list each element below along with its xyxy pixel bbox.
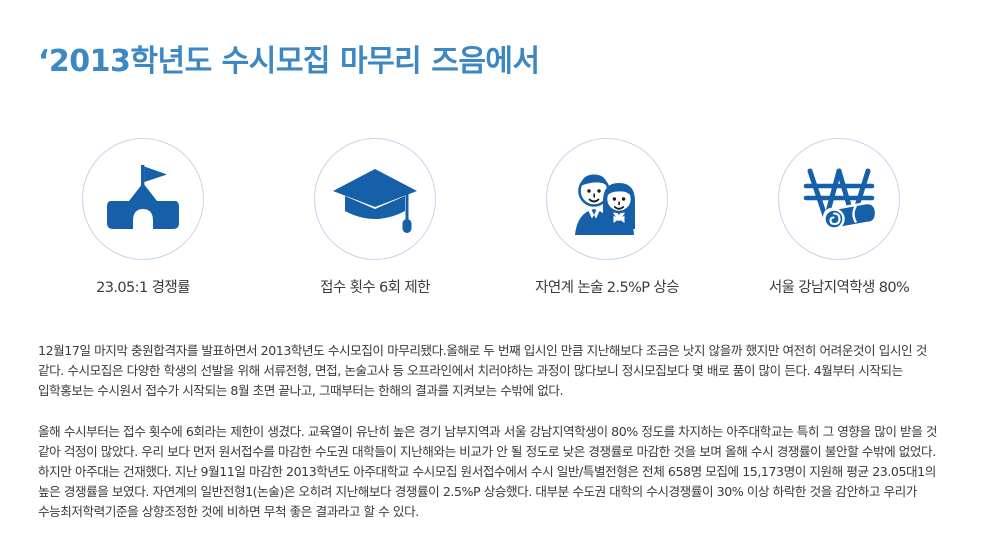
stat-card-gangnam-students: 서울 강남지역학생 80% [734,138,944,297]
stat-icon-row: 23.05:1 경쟁률 접수 횟수 [38,138,944,297]
stat-label: 자연계 논술 2.5%P 상승 [535,276,679,297]
stat-label: 접수 횟수 6회 제한 [320,276,430,297]
stat-label: 23.05:1 경쟁률 [96,276,190,297]
stat-icon-circle [778,138,900,260]
graduation-cap-icon [329,153,421,245]
article-paragraph: 12월17일 마지막 충원합격자를 발표하면서 2013학년도 수시모집이 마무… [38,341,948,402]
stat-icon-circle [314,138,436,260]
article-paragraph: 올해 수시부터는 접수 횟수에 6회라는 제한이 생겼다. 교육열이 유난히 높… [38,422,948,523]
page-title: ‘2013학년도 수시모집 마무리 즈음에서 [38,36,540,80]
stat-icon-circle [82,138,204,260]
school-building-flag-icon [97,153,189,245]
two-students-icon [561,153,653,245]
won-diploma-scroll-icon [793,153,885,245]
stat-card-essay-increase: 자연계 논술 2.5%P 상승 [502,138,712,297]
stat-card-competition-ratio: 23.05:1 경쟁률 [38,138,248,297]
stat-card-application-limit: 접수 횟수 6회 제한 [270,138,480,297]
stat-icon-circle [546,138,668,260]
article-body: 12월17일 마지막 충원합격자를 발표하면서 2013학년도 수시모집이 마무… [38,341,948,523]
stat-label: 서울 강남지역학생 80% [769,276,909,297]
